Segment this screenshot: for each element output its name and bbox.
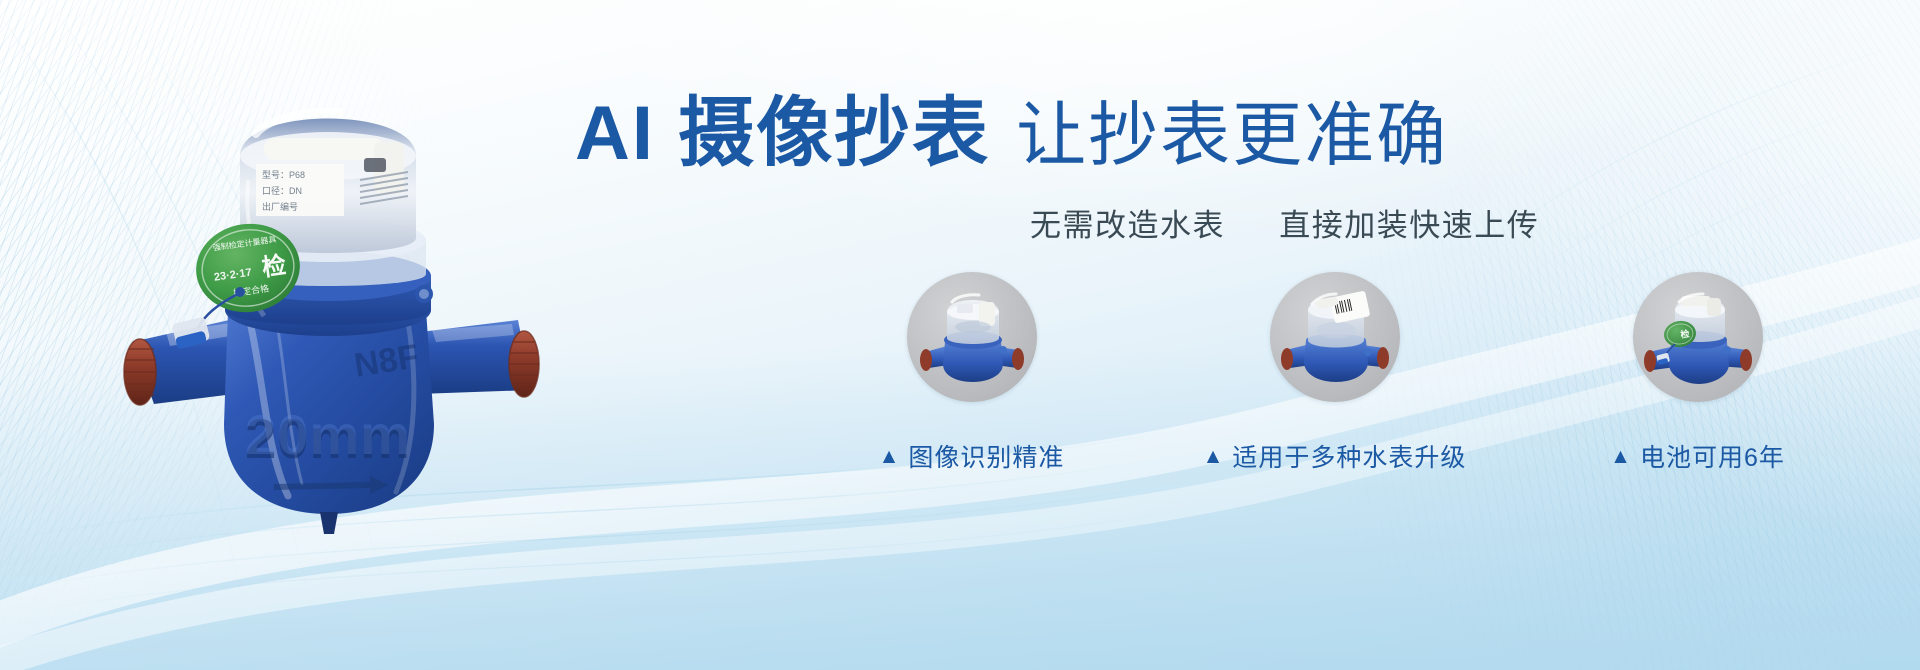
feature-thumbnail-2[interactable] <box>1270 272 1400 402</box>
water-meter-illustration: 20mm 20mm N8F <box>88 72 568 542</box>
headline-secondary: 让抄表更准确 <box>1016 96 1448 174</box>
water-meter-green-sticker-icon: 检 <box>1633 272 1763 402</box>
feature-caption-text-2: 适用于多种水表升级 <box>1232 438 1466 474</box>
feature-caption-text-1: 图像识别精准 <box>908 438 1064 474</box>
sticker-center-text: 检 <box>260 251 288 282</box>
svg-text:型号：P68: 型号：P68 <box>262 170 305 180</box>
subtitle: 无需改造水表 直接加装快速上传 <box>575 200 1895 245</box>
promo-banner: 20mm 20mm N8F <box>0 0 1920 670</box>
triangle-marker-icon: ▲ <box>1610 446 1632 467</box>
feature-caption-3: ▲ 电池可用6年 <box>1610 438 1785 474</box>
svg-text:口径：DN: 口径：DN <box>262 185 302 196</box>
feature-item-battery-life[interactable]: 检 ▲ 电池可用6年 <box>1516 272 1879 474</box>
register-label: 型号：P68 口径：DN 出厂编号 <box>256 164 344 216</box>
subtitle-left: 无需改造水表 <box>1030 208 1225 243</box>
feature-caption-1: ▲ 图像识别精准 <box>879 438 1065 474</box>
copy-block: AI 摄像抄表让抄表更准确 无需改造水表 直接加装快速上传 <box>575 96 1895 245</box>
svg-text:检: 检 <box>1679 328 1689 340</box>
feature-thumbnail-3[interactable]: 检 <box>1633 272 1763 402</box>
water-meter-clear-dome-icon <box>907 272 1037 402</box>
feature-caption-text-3: 电池可用6年 <box>1640 438 1785 474</box>
headline-primary: AI 摄像抄表 <box>575 91 990 176</box>
svg-text:20mm: 20mm <box>245 403 411 466</box>
feature-list: ▲ 图像识别精准 <box>790 272 1880 474</box>
triangle-marker-icon: ▲ <box>1203 446 1225 467</box>
page-title: AI 摄像抄表让抄表更准确 <box>575 96 1895 172</box>
feature-thumbnail-1[interactable] <box>907 272 1037 402</box>
svg-text:出厂编号: 出厂编号 <box>262 201 298 212</box>
water-meter-barcode-label-icon <box>1270 272 1400 402</box>
feature-item-meter-compatibility[interactable]: ▲ 适用于多种水表升级 <box>1153 272 1516 474</box>
subtitle-right: 直接加装快速上传 <box>1279 208 1539 243</box>
feature-item-image-recognition[interactable]: ▲ 图像识别精准 <box>790 272 1153 474</box>
feature-caption-2: ▲ 适用于多种水表升级 <box>1203 438 1467 474</box>
triangle-marker-icon: ▲ <box>879 446 901 467</box>
main-product-image: 20mm 20mm N8F <box>88 72 568 542</box>
